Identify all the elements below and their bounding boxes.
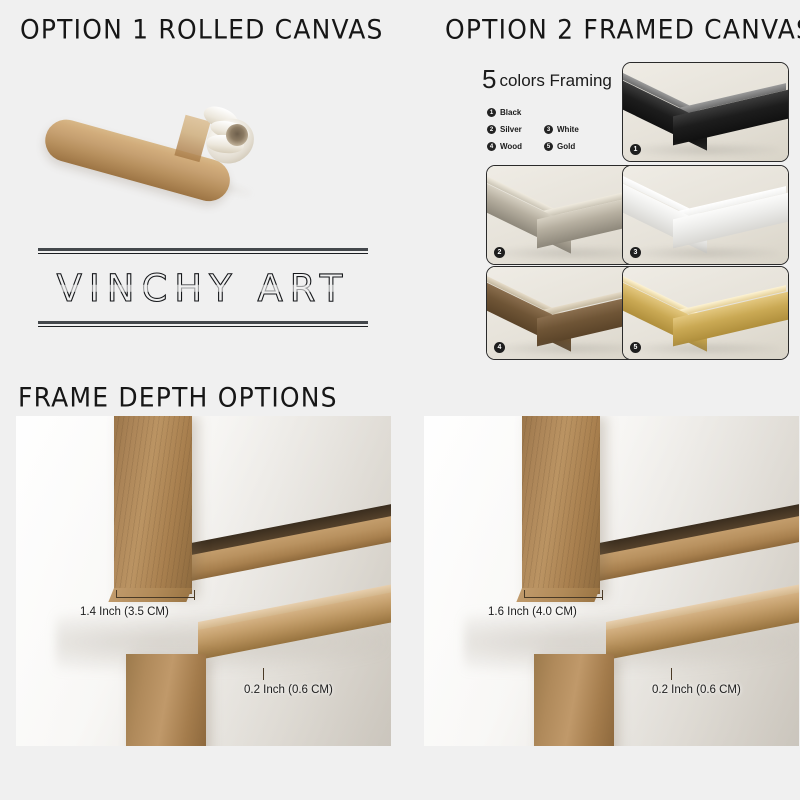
card-shadow (497, 342, 642, 355)
dimension-tick (263, 668, 264, 680)
legend-badge-2: 2 (487, 125, 496, 134)
card-shadow (633, 342, 778, 355)
dimension-tick (194, 590, 195, 600)
frame-color-legend: 1 Black 2 Silver 3 White 4 Wood 5 Gold (487, 108, 602, 159)
brand-wordmark: VINCHY ART (38, 254, 368, 321)
legend-row: 1 Black (487, 108, 602, 117)
frame-depth-label-left: 1.4 Inch (3.5 CM) (80, 606, 169, 618)
legend-item-gold: 5 Gold (544, 142, 601, 151)
legend-item-black: 1 Black (487, 108, 544, 117)
legend-badge-1: 1 (487, 108, 496, 117)
frame-stile-foot (108, 588, 192, 602)
frame-card-badge-1: 1 (630, 144, 641, 155)
frame-sample-card-white[interactable]: 3 (622, 165, 789, 265)
logo-rule-thick (38, 248, 368, 251)
frame-depth-photo-right: 1.6 Inch (4.0 CM) 0.2 Inch (0.6 CM) (424, 416, 799, 746)
legend-row: 4 Wood 5 Gold (487, 142, 602, 151)
section-heading-frame-depth: FRAME DEPTH OPTIONS (18, 382, 338, 413)
dimension-tick (524, 597, 602, 598)
framing-colors-count: 5 (482, 64, 496, 94)
dimension-tick (671, 668, 672, 680)
frame-card-badge-4: 4 (494, 342, 505, 353)
legend-item-white: 3 White (544, 125, 601, 134)
legend-badge-4: 4 (487, 142, 496, 151)
logo-rule-bottom (38, 321, 368, 327)
legend-badge-3: 3 (544, 125, 553, 134)
legend-item-silver: 2 Silver (487, 125, 544, 134)
frame-stile-upper (114, 416, 192, 594)
frame-sample-card-black[interactable]: 1 (622, 62, 789, 162)
frame-depth-photo-left: 1.4 Inch (3.5 CM) 0.2 Inch (0.6 CM) (16, 416, 391, 746)
legend-label-wood: Wood (500, 143, 522, 151)
card-shadow (633, 246, 778, 260)
dimension-tick (116, 590, 117, 598)
kraft-tube-band (174, 115, 210, 162)
frame-thickness-label-right: 0.2 Inch (0.6 CM) (652, 684, 741, 696)
framing-colors-title: 5colors Framing (482, 64, 612, 95)
frame-card-badge-5: 5 (630, 342, 641, 353)
frame-stile-foot (516, 588, 600, 602)
rolled-canvas-photo (40, 62, 290, 202)
dimension-tick (116, 597, 194, 598)
frame-stile-upper (522, 416, 600, 594)
legend-label-silver: Silver (500, 126, 522, 134)
dimension-tick (602, 590, 603, 600)
framing-colors-label: colors Framing (499, 71, 611, 90)
frame-stile-lower (126, 654, 206, 746)
frame-card-badge-3: 3 (630, 247, 641, 258)
legend-badge-5: 5 (544, 142, 553, 151)
section-heading-option-2: OPTION 2 FRAMED CANVAS (445, 14, 800, 45)
legend-row: 2 Silver 3 White (487, 125, 602, 134)
frame-stile-lower (534, 654, 614, 746)
dimension-tick (524, 590, 525, 598)
logo-rule-thick (38, 321, 368, 324)
legend-label-black: Black (500, 109, 521, 117)
legend-item-wood: 4 Wood (487, 142, 544, 151)
legend-label-white: White (557, 126, 579, 134)
brand-logo: VINCHY ART (38, 248, 368, 327)
legend-label-gold: Gold (557, 143, 575, 151)
card-shadow (633, 143, 778, 157)
frame-card-badge-2: 2 (494, 247, 505, 258)
logo-rule-thin (38, 326, 368, 327)
frame-depth-label-right: 1.6 Inch (4.0 CM) (488, 606, 577, 618)
frame-thickness-label-left: 0.2 Inch (0.6 CM) (244, 684, 333, 696)
frame-sample-card-gold[interactable]: 5 (622, 266, 789, 360)
section-heading-option-1: OPTION 1 ROLLED CANVAS (20, 14, 384, 45)
card-shadow (497, 246, 642, 260)
